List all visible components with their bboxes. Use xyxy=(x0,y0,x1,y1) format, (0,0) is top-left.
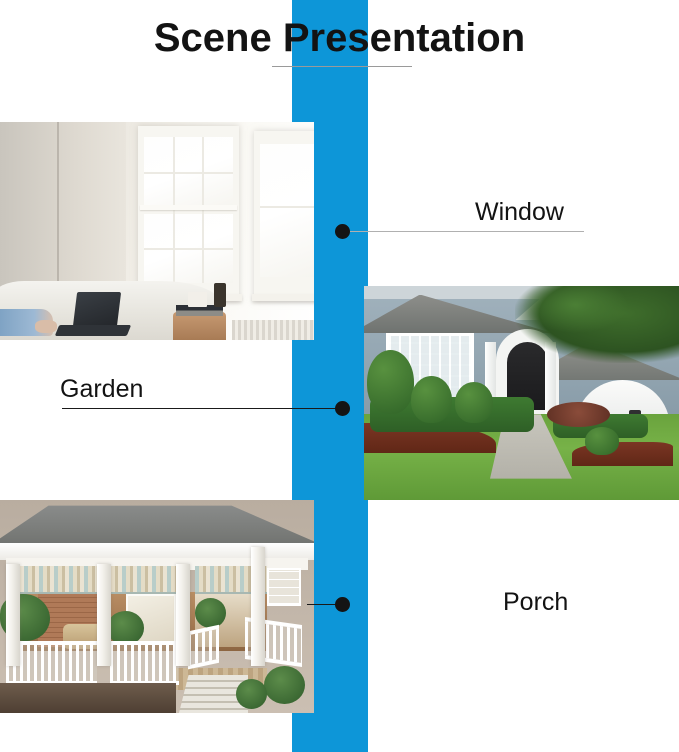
photo-garden-content xyxy=(364,286,679,500)
callout-label-window: Window xyxy=(475,198,564,227)
photo-window-content xyxy=(0,122,314,340)
striped-awning-1 xyxy=(9,566,97,594)
photo-garden[interactable] xyxy=(364,286,679,500)
window-sill-side xyxy=(252,294,314,301)
stair-railing-left xyxy=(188,624,219,668)
callout-dot-porch[interactable] xyxy=(335,597,350,612)
shrub-3 xyxy=(455,382,493,423)
laptop-keyboard xyxy=(54,325,131,336)
window-mullion-vertical-1 xyxy=(173,137,175,283)
shrub-2 xyxy=(411,376,452,423)
window-sash xyxy=(140,205,236,210)
window-mullion-side xyxy=(260,206,314,208)
porch-column-4 xyxy=(251,547,265,666)
striped-awning-2 xyxy=(107,566,186,594)
presentation-slide: Scene Presentation xyxy=(0,0,679,752)
page-title-underline xyxy=(272,66,412,67)
callout-dot-garden[interactable] xyxy=(335,401,350,416)
mug xyxy=(188,292,207,307)
photo-window[interactable] xyxy=(0,122,314,340)
porch-column-1 xyxy=(6,564,20,666)
callout-dot-window[interactable] xyxy=(335,224,350,239)
potted-plant-3 xyxy=(195,598,226,628)
porch-column-3 xyxy=(176,564,190,666)
leader-line-window xyxy=(348,231,584,232)
tree-canopy-secondary xyxy=(522,286,629,333)
photo-porch[interactable] xyxy=(0,500,314,713)
porch-column-2 xyxy=(97,564,111,666)
window-frame-small xyxy=(254,131,314,301)
callout-label-porch: Porch xyxy=(503,588,568,617)
leader-line-garden xyxy=(62,408,343,409)
upper-window xyxy=(267,568,302,606)
photo-porch-content xyxy=(0,500,314,713)
shrub-4 xyxy=(585,427,620,455)
callout-label-garden: Garden xyxy=(60,375,143,404)
japanese-maple xyxy=(547,402,610,428)
potted-plant-5 xyxy=(236,679,267,709)
radiator xyxy=(232,320,314,340)
vase xyxy=(214,283,227,307)
potted-plant-4 xyxy=(264,666,305,704)
window-mullion-horizontal-2 xyxy=(144,248,232,250)
page-title: Scene Presentation xyxy=(0,16,679,61)
window-frame-large xyxy=(138,126,238,300)
person-hand xyxy=(35,320,57,333)
porch-railing-2 xyxy=(110,641,179,685)
room-wall-corner xyxy=(57,122,59,292)
window-glass-side xyxy=(260,144,314,277)
window-mullion-vertical-2 xyxy=(202,137,204,283)
window-mullion-horizontal-1 xyxy=(144,172,232,174)
porch-under-skirt xyxy=(0,683,176,713)
shrub-1 xyxy=(367,350,414,414)
laptop-screen xyxy=(73,292,121,327)
